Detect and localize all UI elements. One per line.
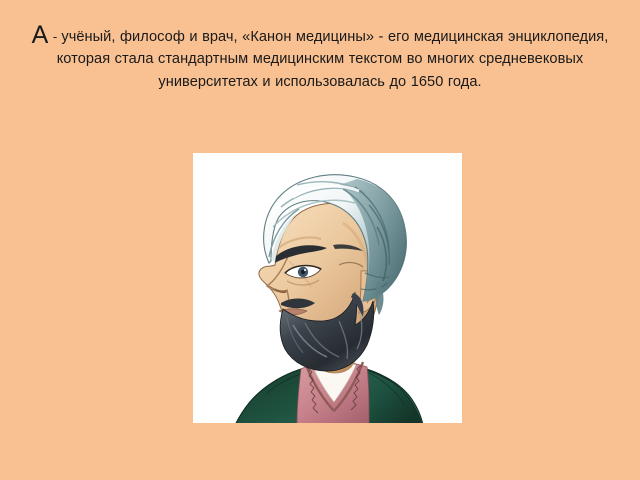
scholar-portrait-image bbox=[193, 153, 462, 423]
caption-lead-dash: - bbox=[49, 29, 62, 44]
caption-text-block: А - учёный, философ и врач, «Канон медиц… bbox=[28, 24, 612, 93]
caption-body: учёный, философ и врач, «Канон медицины»… bbox=[57, 29, 609, 90]
caption-dropcap: А bbox=[32, 21, 49, 49]
portrait-frame bbox=[193, 153, 462, 423]
slide-canvas: А - учёный, философ и врач, «Канон медиц… bbox=[0, 0, 640, 480]
